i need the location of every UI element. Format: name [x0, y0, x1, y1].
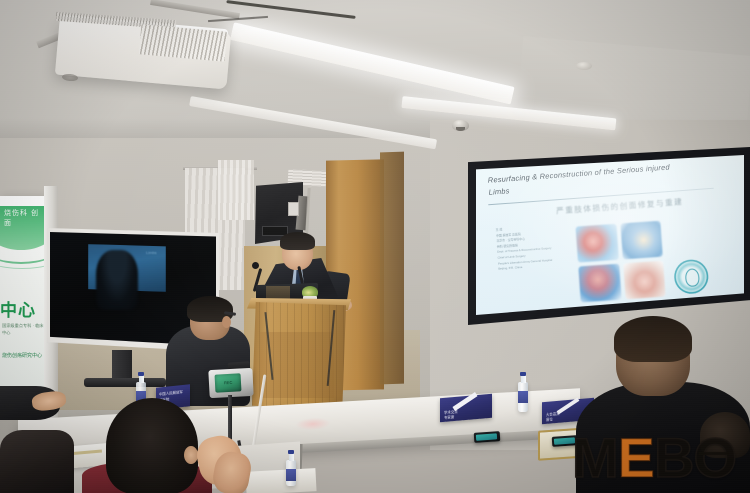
watermark-letter-e: E: [618, 426, 654, 489]
slide-clinical-image-1: [576, 224, 619, 263]
water-bottle-3: [286, 460, 296, 486]
slide-clinical-image-2: [620, 221, 663, 260]
banner-subtext-2: 烧伤创疡研究中心: [2, 352, 44, 360]
mebo-watermark: MEBO: [572, 430, 736, 486]
window-curtain-upper: [218, 160, 254, 220]
foreground-man-right-hair: [614, 316, 692, 362]
banner-top-text: 烧伤科 创面: [4, 208, 44, 228]
name-card-3-line2: 席位: [546, 417, 553, 423]
photo-scene: Resurfacing & Reconstruction of the Seri…: [0, 0, 750, 493]
smartphone-1-screen[interactable]: [476, 433, 497, 440]
wall-outlet: [288, 202, 299, 216]
tv-feed-speaker-silhouette: [96, 250, 138, 310]
table-surface-mark: [296, 417, 330, 431]
tv-feed-caption: Limbs: [146, 250, 168, 256]
slide-clinical-image-3: [578, 264, 621, 303]
slide-image-empty-slot: [665, 218, 708, 257]
banner-headline: 中心: [0, 296, 44, 321]
banner-subtext-1: 国家级重点专科 · 临床中心: [2, 322, 44, 336]
ceiling-dome-camera-icon: [452, 120, 469, 131]
bottle-label-2: [518, 391, 528, 403]
watermark-letter-m: M: [572, 426, 618, 489]
camcorder-lcd-status: REC: [224, 380, 233, 385]
name-card-2-line2: 专家席: [444, 415, 454, 421]
speaker-hair: [280, 232, 315, 250]
bottle-label-3: [286, 469, 296, 481]
seated-man-ear: [222, 316, 231, 328]
watermark-letter-o: O: [693, 426, 736, 489]
document-papers-2: [245, 468, 316, 493]
tv-stand-base: [84, 378, 166, 387]
foreground-person-left-shoulder: [0, 430, 74, 493]
name-card-2: 学术交流 专家席: [440, 394, 492, 423]
watermark-letter-b: B: [654, 426, 693, 489]
slide-image-grid: [576, 218, 711, 303]
slide-clinical-image-4: [623, 261, 666, 300]
water-bottle-2: [518, 382, 528, 412]
smoke-detector-icon: [576, 62, 592, 70]
name-card-3-stripe: [557, 397, 580, 414]
hospital-seal-logo-icon: [673, 259, 709, 295]
foreground-woman-head: [106, 398, 198, 493]
microphone-head: [252, 262, 259, 269]
slide-byline-block: 王 成 中国 解放军 总医院 北京市 · 全军骨科中心 骨科 研究所教授 Dep…: [496, 222, 577, 272]
wood-column-shadow-side: [380, 152, 404, 385]
smartphone-1[interactable]: [474, 431, 501, 443]
name-card-1-line1: 中国人民解放军: [159, 390, 183, 397]
